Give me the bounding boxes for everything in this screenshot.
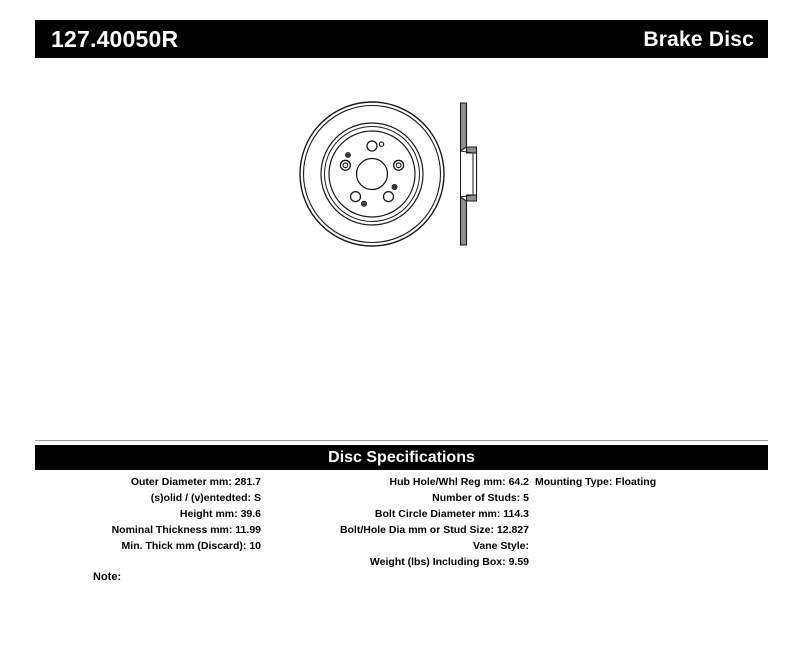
spec-row: Mounting Type: Floating — [529, 474, 768, 490]
spec-label: Min. Thick mm (Discard): — [122, 540, 247, 552]
spec-row: (s)olid / (v)entedted: S — [35, 490, 261, 506]
spec-row: Number of Studs: 5 — [261, 490, 529, 506]
note-label: Note: — [93, 571, 121, 583]
spec-row: Weight (lbs) Including Box: 9.59 — [261, 554, 529, 570]
spec-row: Hub Hole/Whl Reg mm: 64.2 — [261, 474, 529, 490]
spec-value: 114.3 — [503, 508, 529, 520]
spec-label: Bolt Circle Diameter mm: — [375, 508, 500, 520]
spec-row: Outer Diameter mm: 281.7 — [35, 474, 261, 490]
spec-label: Vane Style: — [473, 540, 529, 552]
spec-label: Mounting Type: — [535, 476, 612, 488]
spec-label: Nominal Thickness mm: — [112, 524, 233, 536]
spec-value: 10 — [249, 540, 261, 552]
spec-label: Outer Diameter mm: — [131, 476, 232, 488]
alignment-pin-holes — [346, 142, 397, 206]
spec-value: 11.99 — [235, 524, 261, 536]
spec-label: Height mm: — [180, 508, 238, 520]
spec-value: 39.6 — [241, 508, 261, 520]
spec-row: Height mm: 39.6 — [35, 506, 261, 522]
lug-hole-inner-ring — [343, 163, 401, 168]
spec-value: S — [254, 492, 261, 504]
spec-column-left: Outer Diameter mm: 281.7 (s)olid / (v)en… — [35, 474, 261, 554]
spec-row: Vane Style: — [261, 538, 529, 554]
spec-label: Weight (lbs) Including Box: — [370, 556, 506, 568]
spec-row: Min. Thick mm (Discard): 10 — [35, 538, 261, 554]
note-block: Note: — [35, 570, 435, 584]
spec-section-title: Disc Specifications — [328, 450, 475, 466]
spec-value: 281.7 — [235, 476, 261, 488]
spec-columns: Outer Diameter mm: 281.7 (s)olid / (v)en… — [35, 474, 768, 570]
spec-label: (s)olid / (v)entedted: — [151, 492, 251, 504]
brake-disc-drawing-svg — [290, 95, 520, 295]
brake-rotor-edge-profile-view — [461, 103, 477, 245]
spec-value: 64.2 — [509, 476, 529, 488]
spec-row: Bolt/Hole Dia mm or Stud Size: 12.827 — [261, 522, 529, 538]
technical-drawing — [290, 95, 520, 295]
spec-column-right: Mounting Type: Floating — [529, 474, 768, 490]
spec-row: Bolt Circle Diameter mm: 114.3 — [261, 506, 529, 522]
spec-divider — [35, 440, 768, 441]
spec-label: Hub Hole/Whl Reg mm: — [390, 476, 506, 488]
spec-title-bar: Disc Specifications — [35, 445, 768, 470]
spec-value: 12.827 — [497, 524, 529, 536]
spec-label: Bolt/Hole Dia mm or Stud Size: — [340, 524, 494, 536]
spec-column-middle: Hub Hole/Whl Reg mm: 64.2 Number of Stud… — [261, 474, 529, 570]
lug-hole-pattern — [340, 141, 403, 202]
brake-rotor-face-view — [300, 102, 444, 246]
header-bar: 127.40050R Brake Disc — [35, 20, 768, 58]
spec-value: 9.59 — [509, 556, 529, 568]
spec-row: Nominal Thickness mm: 11.99 — [35, 522, 261, 538]
spec-label: Number of Studs: — [432, 492, 520, 504]
part-number: 127.40050R — [51, 28, 178, 51]
spec-value: Floating — [615, 476, 656, 488]
product-type-label: Brake Disc — [643, 29, 754, 50]
spec-value: 5 — [523, 492, 529, 504]
